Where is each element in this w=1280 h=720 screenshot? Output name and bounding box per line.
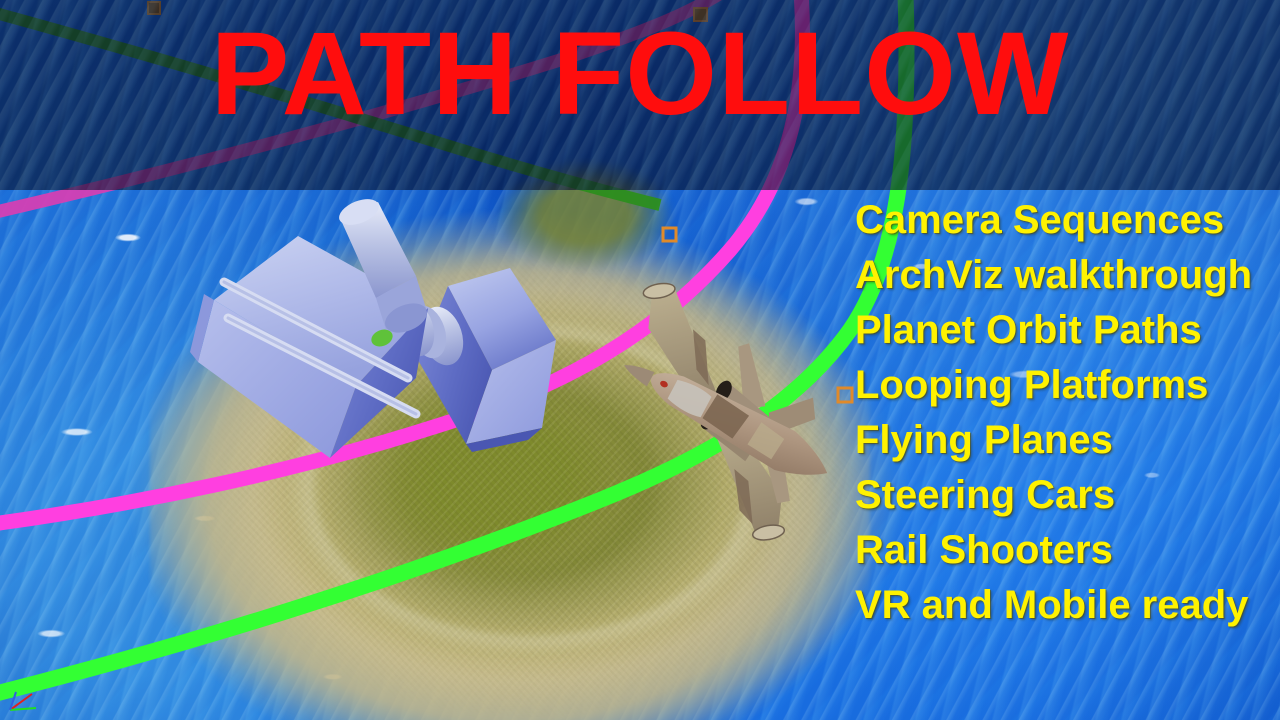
- feature-item-vr-and-mobile-ready: VR and Mobile ready: [855, 578, 1275, 633]
- page-title: PATH FOLLOW: [0, 14, 1280, 134]
- feature-item-steering-cars: Steering Cars: [855, 468, 1275, 523]
- security-camera-model[interactable]: [180, 190, 600, 470]
- feature-list: Camera Sequences ArchViz walkthrough Pla…: [855, 193, 1275, 633]
- feature-item-planet-orbit-paths: Planet Orbit Paths: [855, 303, 1275, 358]
- fighter-jet-model[interactable]: [560, 290, 880, 540]
- path-follow-promo-scene: PATH FOLLOW Camera Sequences ArchViz wal…: [0, 0, 1280, 720]
- feature-item-archviz-walkthrough: ArchViz walkthrough: [855, 248, 1275, 303]
- axis-gizmo[interactable]: [6, 688, 48, 716]
- feature-item-camera-sequences: Camera Sequences: [855, 193, 1275, 248]
- feature-item-looping-platforms: Looping Platforms: [855, 358, 1275, 413]
- waypoint-marker-2[interactable]: [663, 228, 676, 241]
- feature-item-rail-shooters: Rail Shooters: [855, 523, 1275, 578]
- feature-item-flying-planes: Flying Planes: [855, 413, 1275, 468]
- jet-nose: [620, 358, 654, 386]
